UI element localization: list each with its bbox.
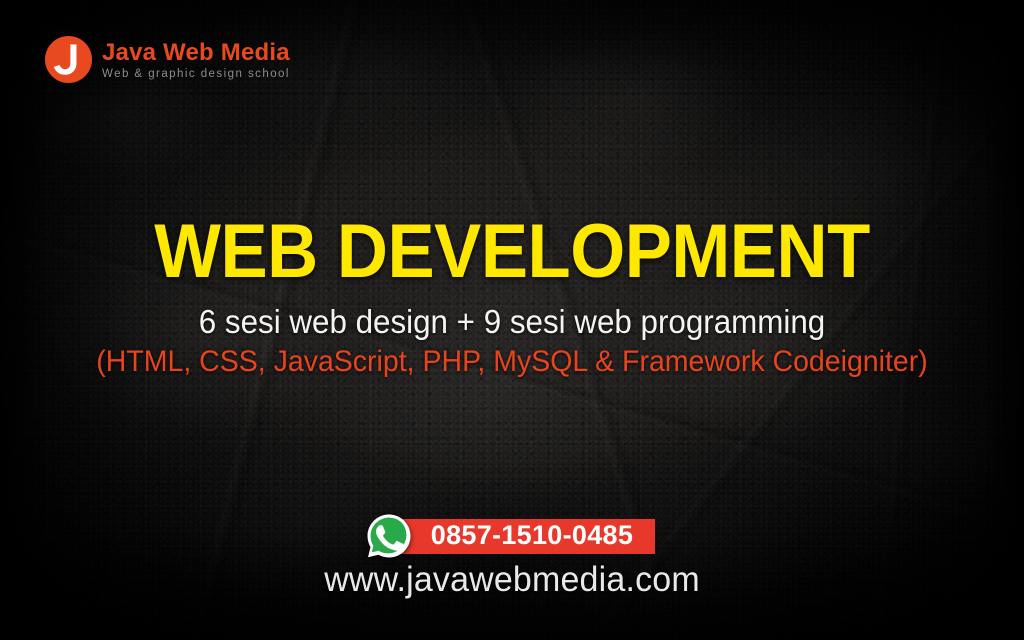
brand-tagline: Web & graphic design school [102,69,290,81]
page-title: WEB DEVELOPMENT [36,214,988,290]
contact-block: 0857-1510-0485 [0,512,1024,560]
hero-technologies: (HTML, CSS, JavaScript, PHP, MySQL & Fra… [26,345,999,380]
hero-text-block: WEB DEVELOPMENT 6 sesi web design + 9 se… [0,214,1024,380]
brand-logo-text: Java Web Media Web & graphic design scho… [102,39,290,81]
website-url[interactable]: www.javawebmedia.com [15,560,1008,600]
whatsapp-icon[interactable] [365,512,413,560]
phone-number[interactable]: 0857-1510-0485 [399,519,655,554]
hero-subtitle: 6 sesi web design + 9 sesi web programmi… [26,303,999,341]
brand-name: Java Web Media [102,41,290,65]
brand-logo[interactable]: Java Web Media Web & graphic design scho… [45,36,290,83]
whatsapp-contact[interactable]: 0857-1510-0485 [365,512,655,560]
promo-banner: Java Web Media Web & graphic design scho… [0,0,1024,640]
java-letter-j-icon [45,36,92,83]
